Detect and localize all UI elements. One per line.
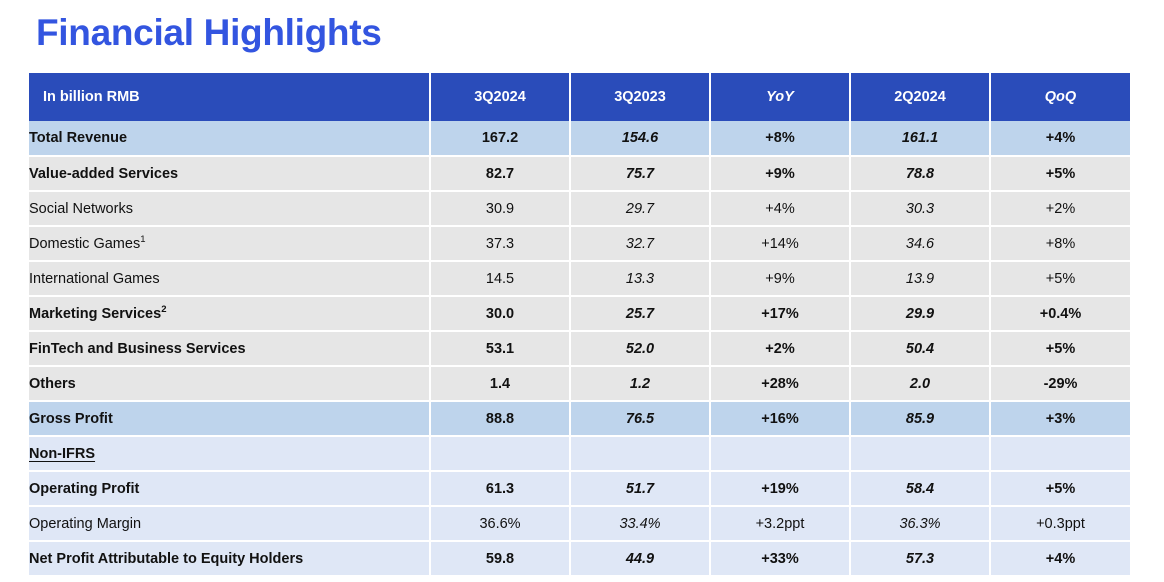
table-row: FinTech and Business Services53.152.0+2%… xyxy=(29,331,1130,366)
cell-yoy: +19% xyxy=(710,471,850,506)
column-header-3q2024: 3Q2024 xyxy=(430,73,570,121)
row-label: Value-added Services xyxy=(29,156,430,191)
table-row: Non-IFRS xyxy=(29,436,1130,471)
table-row: Operating Margin36.6%33.4%+3.2ppt36.3%+0… xyxy=(29,506,1130,541)
cell-yoy: +17% xyxy=(710,296,850,331)
column-header-yoy: YoY xyxy=(710,73,850,121)
cell-yoy xyxy=(710,436,850,471)
row-label-text: Domestic Games xyxy=(29,236,140,252)
cell-qoq: +5% xyxy=(990,261,1130,296)
cell-q3_2024: 1.4 xyxy=(430,366,570,401)
table-row: Value-added Services82.775.7+9%78.8+5% xyxy=(29,156,1130,191)
cell-q3_2023: 25.7 xyxy=(570,296,710,331)
column-header-qoq: QoQ xyxy=(990,73,1130,121)
cell-q3_2023: 13.3 xyxy=(570,261,710,296)
table-header-row: In billion RMB 3Q2024 3Q2023 YoY 2Q2024 … xyxy=(29,73,1130,121)
cell-q3_2024: 36.6% xyxy=(430,506,570,541)
cell-q3_2023: 52.0 xyxy=(570,331,710,366)
cell-q2_2024: 2.0 xyxy=(850,366,990,401)
cell-q3_2023: 44.9 xyxy=(570,541,710,576)
cell-q2_2024: 85.9 xyxy=(850,401,990,436)
row-label: Operating Profit xyxy=(29,471,430,506)
column-header-3q2023: 3Q2023 xyxy=(570,73,710,121)
cell-q3_2024: 61.3 xyxy=(430,471,570,506)
cell-q3_2024: 82.7 xyxy=(430,156,570,191)
table-row: Operating Profit61.351.7+19%58.4+5% xyxy=(29,471,1130,506)
row-label-text: Others xyxy=(29,376,76,392)
row-label-footnote-marker: 2 xyxy=(161,304,166,315)
cell-q2_2024: 78.8 xyxy=(850,156,990,191)
row-label-text: FinTech and Business Services xyxy=(29,341,246,357)
cell-q3_2024: 30.0 xyxy=(430,296,570,331)
table-row: Others1.41.2+28%2.0-29% xyxy=(29,366,1130,401)
column-header-2q2024: 2Q2024 xyxy=(850,73,990,121)
row-label-text: Gross Profit xyxy=(29,411,113,427)
cell-q3_2024: 30.9 xyxy=(430,191,570,226)
cell-q3_2024: 88.8 xyxy=(430,401,570,436)
row-label: Marketing Services2 xyxy=(29,296,430,331)
cell-q2_2024: 13.9 xyxy=(850,261,990,296)
cell-q2_2024: 29.9 xyxy=(850,296,990,331)
cell-qoq: +0.4% xyxy=(990,296,1130,331)
cell-q2_2024: 57.3 xyxy=(850,541,990,576)
row-label: Social Networks xyxy=(29,191,430,226)
cell-yoy: +33% xyxy=(710,541,850,576)
cell-q3_2024 xyxy=(430,436,570,471)
cell-yoy: +14% xyxy=(710,226,850,261)
cell-q3_2023: 32.7 xyxy=(570,226,710,261)
row-label: Total Revenue xyxy=(29,121,430,156)
cell-q3_2023: 154.6 xyxy=(570,121,710,156)
row-label: Gross Profit xyxy=(29,401,430,436)
cell-q3_2024: 53.1 xyxy=(430,331,570,366)
table-row: International Games14.513.3+9%13.9+5% xyxy=(29,261,1130,296)
cell-yoy: +28% xyxy=(710,366,850,401)
row-label: Net Profit Attributable to Equity Holder… xyxy=(29,541,430,576)
cell-yoy: +4% xyxy=(710,191,850,226)
table-row: Social Networks30.929.7+4%30.3+2% xyxy=(29,191,1130,226)
cell-yoy: +8% xyxy=(710,121,850,156)
row-label-text: Operating Profit xyxy=(29,481,139,497)
table-row: Total Revenue167.2154.6+8%161.1+4% xyxy=(29,121,1130,156)
cell-qoq: +5% xyxy=(990,156,1130,191)
cell-q3_2024: 14.5 xyxy=(430,261,570,296)
cell-yoy: +3.2ppt xyxy=(710,506,850,541)
cell-q2_2024: 50.4 xyxy=(850,331,990,366)
row-label-text: Value-added Services xyxy=(29,166,178,182)
table-row: Domestic Games137.332.7+14%34.6+8% xyxy=(29,226,1130,261)
row-label: Others xyxy=(29,366,430,401)
cell-q3_2024: 37.3 xyxy=(430,226,570,261)
cell-qoq xyxy=(990,436,1130,471)
row-label-text: Total Revenue xyxy=(29,130,127,146)
cell-q2_2024: 30.3 xyxy=(850,191,990,226)
cell-qoq: -29% xyxy=(990,366,1130,401)
cell-yoy: +9% xyxy=(710,261,850,296)
cell-q3_2023: 29.7 xyxy=(570,191,710,226)
cell-q2_2024: 34.6 xyxy=(850,226,990,261)
row-label-text: Operating Margin xyxy=(29,516,141,532)
cell-qoq: +5% xyxy=(990,471,1130,506)
column-header-label: In billion RMB xyxy=(29,73,430,121)
row-label: Operating Margin xyxy=(29,506,430,541)
cell-q3_2023: 75.7 xyxy=(570,156,710,191)
cell-q2_2024: 36.3% xyxy=(850,506,990,541)
cell-q3_2023: 1.2 xyxy=(570,366,710,401)
table-header: In billion RMB 3Q2024 3Q2023 YoY 2Q2024 … xyxy=(29,73,1130,121)
row-label: Domestic Games1 xyxy=(29,226,430,261)
cell-yoy: +16% xyxy=(710,401,850,436)
row-label-text: International Games xyxy=(29,271,160,287)
cell-q2_2024 xyxy=(850,436,990,471)
cell-qoq: +2% xyxy=(990,191,1130,226)
cell-q3_2024: 167.2 xyxy=(430,121,570,156)
cell-q3_2024: 59.8 xyxy=(430,541,570,576)
cell-q3_2023 xyxy=(570,436,710,471)
cell-q3_2023: 76.5 xyxy=(570,401,710,436)
row-label-text: Marketing Services xyxy=(29,306,161,322)
row-label: International Games xyxy=(29,261,430,296)
table-body: Total Revenue167.2154.6+8%161.1+4%Value-… xyxy=(29,121,1130,576)
cell-qoq: +4% xyxy=(990,121,1130,156)
cell-qoq: +8% xyxy=(990,226,1130,261)
cell-q3_2023: 33.4% xyxy=(570,506,710,541)
cell-qoq: +0.3ppt xyxy=(990,506,1130,541)
row-label-text: Net Profit Attributable to Equity Holder… xyxy=(29,551,303,567)
cell-qoq: +3% xyxy=(990,401,1130,436)
page-title: Financial Highlights xyxy=(36,12,382,55)
cell-yoy: +2% xyxy=(710,331,850,366)
table-row: Marketing Services230.025.7+17%29.9+0.4% xyxy=(29,296,1130,331)
row-label-text: Social Networks xyxy=(29,201,133,217)
row-label-footnote-marker: 1 xyxy=(140,234,145,245)
row-label-text: Non-IFRS xyxy=(29,446,95,462)
cell-q2_2024: 58.4 xyxy=(850,471,990,506)
cell-q2_2024: 161.1 xyxy=(850,121,990,156)
table-row: Gross Profit88.876.5+16%85.9+3% xyxy=(29,401,1130,436)
cell-q3_2023: 51.7 xyxy=(570,471,710,506)
row-label: FinTech and Business Services xyxy=(29,331,430,366)
cell-qoq: +5% xyxy=(990,331,1130,366)
cell-qoq: +4% xyxy=(990,541,1130,576)
cell-yoy: +9% xyxy=(710,156,850,191)
row-label: Non-IFRS xyxy=(29,436,430,471)
financial-highlights-table: In billion RMB 3Q2024 3Q2023 YoY 2Q2024 … xyxy=(29,73,1130,577)
table-row: Net Profit Attributable to Equity Holder… xyxy=(29,541,1130,576)
